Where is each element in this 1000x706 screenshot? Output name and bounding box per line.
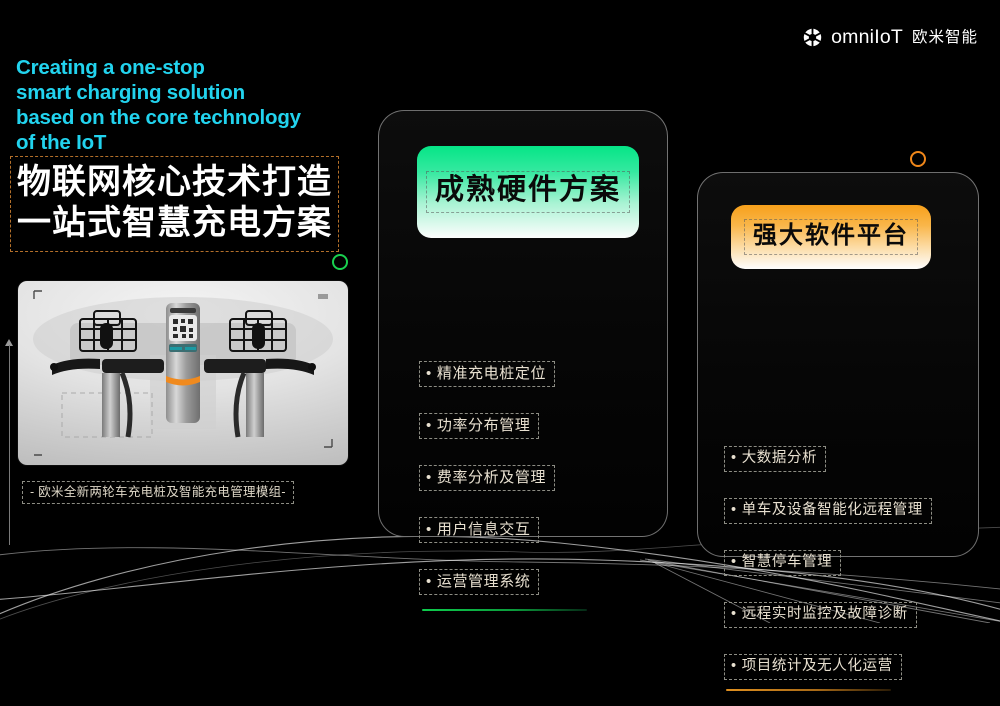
list-item[interactable]: •智慧停车管理 — [698, 550, 978, 576]
bullet-label: 精准充电桩定位 — [437, 365, 546, 382]
list-item[interactable]: •精准充电桩定位 — [379, 361, 667, 387]
bullet-dot-icon: • — [426, 572, 432, 591]
bullet-label: 项目统计及无人化运营 — [742, 658, 893, 674]
bullet-dot-icon: • — [426, 364, 432, 383]
card-hardware-header: 成熟硬件方案 — [417, 146, 639, 238]
bullet-dot-icon: • — [731, 605, 737, 624]
headline-english: Creating a one-stop smart charging solut… — [16, 55, 301, 155]
card-hardware-bullet-list: •精准充电桩定位 •功率分布管理 •费率分析及管理 •用户信息交互 •运营管理系… — [379, 361, 667, 621]
bullet-label: 功率分布管理 — [437, 417, 531, 434]
aperture-icon — [803, 28, 822, 47]
headline-chinese-box: 物联网核心技术打造 一站式智慧充电方案 — [10, 156, 339, 252]
bullet-label: 大数据分析 — [742, 450, 818, 466]
list-item[interactable]: •项目统计及无人化运营 — [698, 654, 978, 680]
card-software-title: 强大软件平台 — [744, 219, 918, 255]
bullet-dot-icon: • — [731, 657, 737, 676]
bullet-dot-icon: • — [731, 449, 737, 468]
list-item[interactable]: •费率分析及管理 — [379, 465, 667, 491]
green-ring-marker-icon — [332, 254, 348, 270]
bullet-label: 运营管理系统 — [437, 573, 531, 590]
product-photo — [18, 281, 348, 465]
charging-station-illustration — [18, 281, 348, 465]
left-axis-line — [9, 345, 10, 545]
card-software-bullet-list: •大数据分析 •单车及设备智能化远程管理 •智慧停车管理 •远程实时监控及故障诊… — [698, 446, 978, 706]
bullet-dot-icon: • — [426, 416, 432, 435]
orange-ring-marker-icon — [910, 151, 926, 167]
bullet-label: 用户信息交互 — [437, 521, 531, 538]
bullet-dot-icon: • — [426, 468, 432, 487]
list-item[interactable]: •用户信息交互 — [379, 517, 667, 543]
list-item[interactable]: •运营管理系统 — [379, 569, 667, 595]
card-software-header: 强大软件平台 — [731, 205, 931, 269]
card-hardware-title: 成熟硬件方案 — [426, 171, 630, 212]
card-hardware[interactable]: 成熟硬件方案 •精准充电桩定位 •功率分布管理 •费率分析及管理 •用户信息交互… — [378, 110, 668, 537]
logo-wordmark: omniIoT — [831, 28, 903, 48]
bullet-dot-icon: • — [426, 520, 432, 539]
bullet-label: 单车及设备智能化远程管理 — [742, 502, 923, 518]
bullet-dot-icon: • — [731, 501, 737, 520]
card-hardware-accent-line — [422, 609, 587, 611]
headline-chinese: 物联网核心技术打造 一站式智慧充电方案 — [17, 162, 332, 244]
list-item[interactable]: •大数据分析 — [698, 446, 978, 472]
list-item[interactable]: •功率分布管理 — [379, 413, 667, 439]
logo-name-cn: 欧米智能 — [912, 30, 978, 46]
bullet-label: 智慧停车管理 — [742, 554, 833, 570]
list-item[interactable]: •单车及设备智能化远程管理 — [698, 498, 978, 524]
card-software-accent-line — [726, 689, 891, 691]
brand-logo: omniIoT 欧米智能 — [803, 28, 978, 48]
list-item[interactable]: •远程实时监控及故障诊断 — [698, 602, 978, 628]
card-software[interactable]: 强大软件平台 •大数据分析 •单车及设备智能化远程管理 •智慧停车管理 •远程实… — [697, 172, 979, 557]
product-caption-box: - 欧米全新两轮车充电桩及智能充电管理模组- — [22, 481, 294, 504]
bullet-label: 远程实时监控及故障诊断 — [742, 606, 908, 622]
bullet-dot-icon: • — [731, 553, 737, 572]
bullet-label: 费率分析及管理 — [437, 469, 546, 486]
product-caption: - 欧米全新两轮车充电桩及智能充电管理模组- — [30, 484, 286, 500]
